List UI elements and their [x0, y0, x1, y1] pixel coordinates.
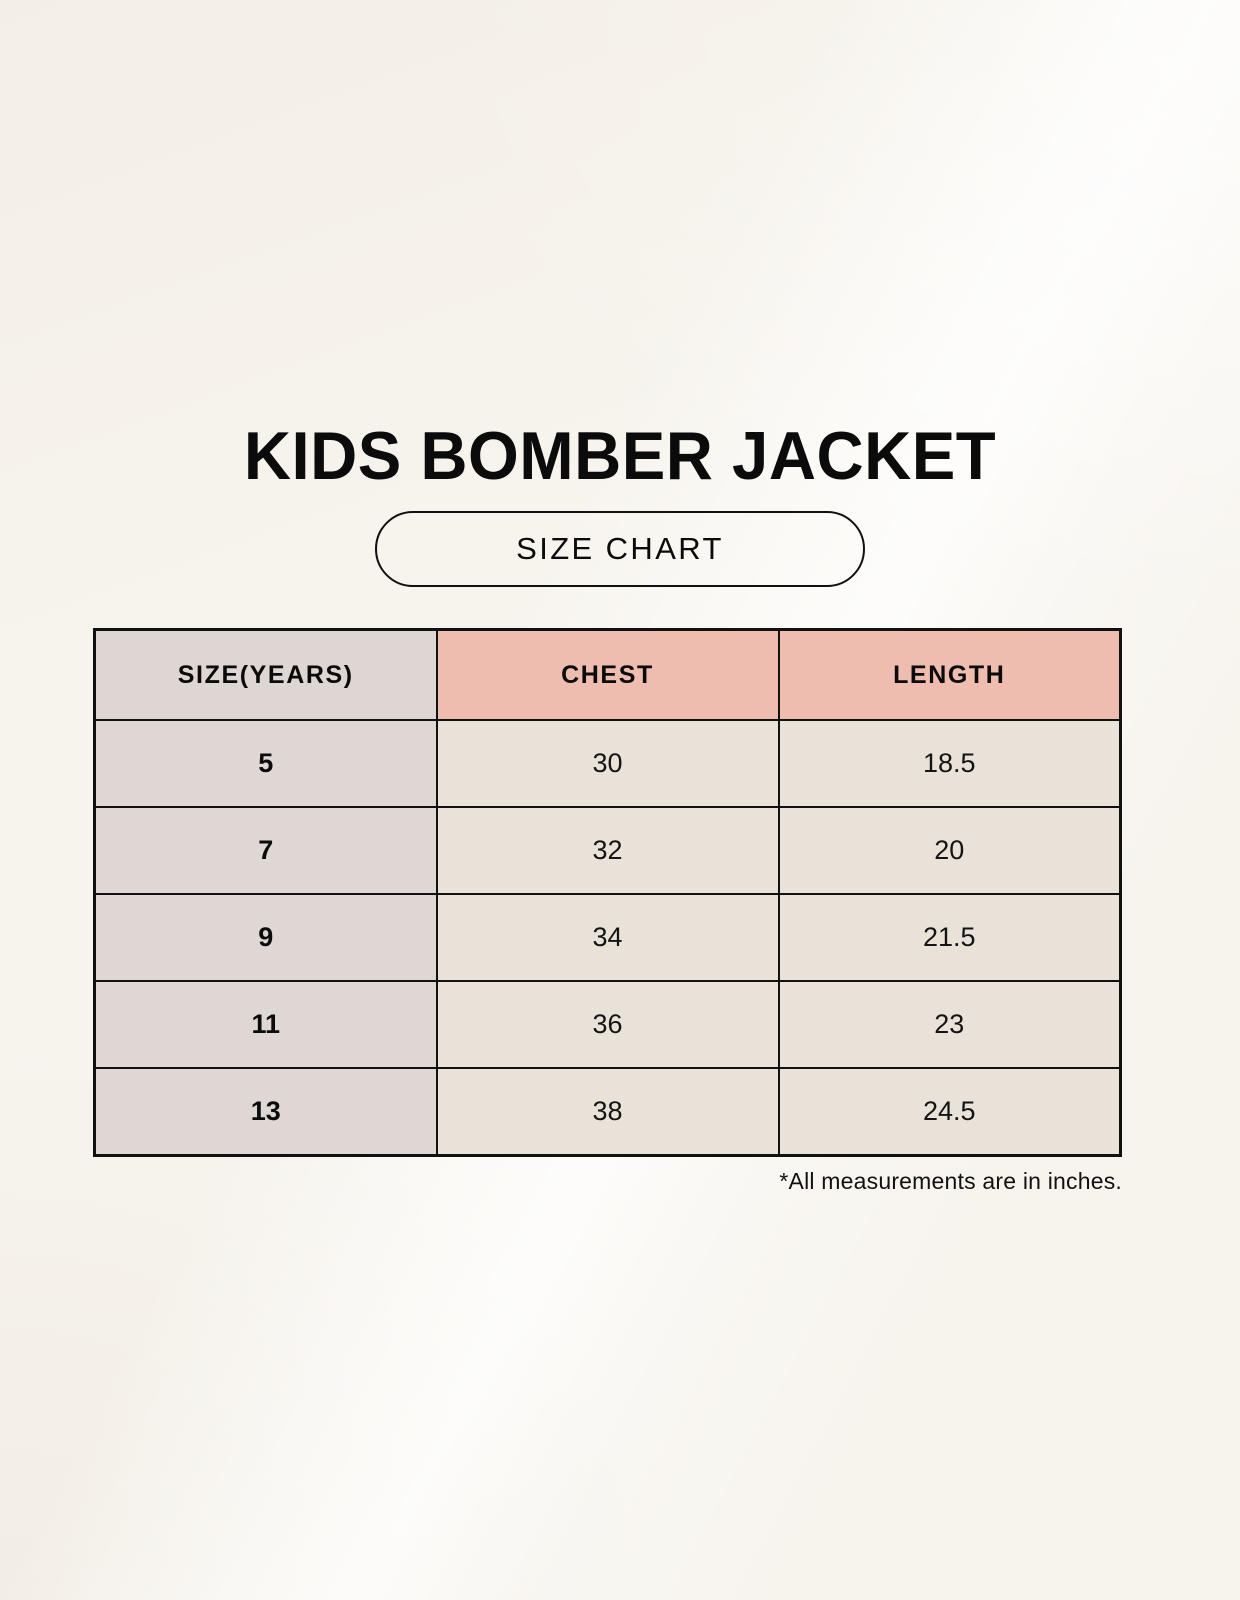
table-row: 7 32 20 [95, 807, 1121, 894]
cell-size: 7 [95, 807, 437, 894]
cell-size: 5 [95, 720, 437, 807]
column-header-chest: CHEST [437, 630, 779, 721]
cell-chest: 38 [437, 1068, 779, 1155]
size-chart-page: KIDS BOMBER JACKET SIZE CHART SIZE(YEARS… [0, 0, 1240, 1600]
cell-length: 23 [779, 981, 1121, 1068]
column-header-size: SIZE(YEARS) [95, 630, 437, 721]
badge-container: SIZE CHART [0, 511, 1240, 587]
table-row: 5 30 18.5 [95, 720, 1121, 807]
size-chart-badge: SIZE CHART [375, 511, 865, 587]
cell-size: 11 [95, 981, 437, 1068]
cell-size: 9 [95, 894, 437, 981]
table-row: 9 34 21.5 [95, 894, 1121, 981]
page-title: KIDS BOMBER JACKET [25, 418, 1215, 494]
cell-chest: 36 [437, 981, 779, 1068]
table-row: 11 36 23 [95, 981, 1121, 1068]
table-row: 13 38 24.5 [95, 1068, 1121, 1155]
cell-chest: 32 [437, 807, 779, 894]
cell-length: 20 [779, 807, 1121, 894]
cell-chest: 30 [437, 720, 779, 807]
cell-length: 24.5 [779, 1068, 1121, 1155]
cell-chest: 34 [437, 894, 779, 981]
cell-size: 13 [95, 1068, 437, 1155]
table-header: SIZE(YEARS) CHEST LENGTH [95, 630, 1121, 721]
size-chart-table: SIZE(YEARS) CHEST LENGTH 5 30 18.5 7 32 … [93, 628, 1122, 1157]
column-header-length: LENGTH [779, 630, 1121, 721]
table-body: 5 30 18.5 7 32 20 9 34 21.5 11 36 23 13 [95, 720, 1121, 1155]
table-header-row: SIZE(YEARS) CHEST LENGTH [95, 630, 1121, 721]
measurement-note: *All measurements are in inches. [93, 1168, 1122, 1195]
cell-length: 18.5 [779, 720, 1121, 807]
cell-length: 21.5 [779, 894, 1121, 981]
